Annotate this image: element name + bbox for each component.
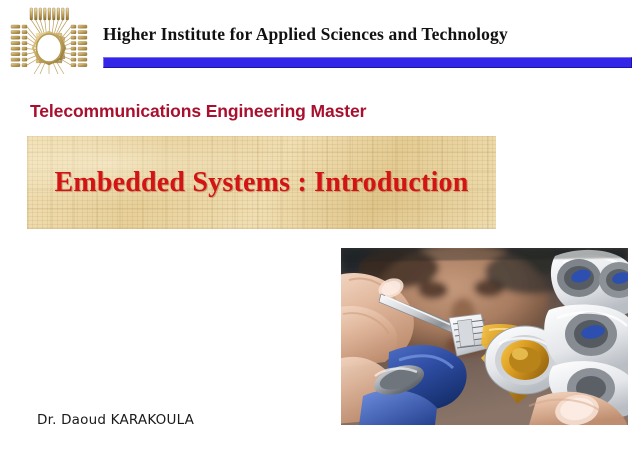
title-banner: Embedded Systems : Introduction <box>27 136 496 229</box>
slide-canvas: Higher Institute for Applied Sciences an… <box>0 0 640 452</box>
author-name: Dr. Daoud KARAKOULA <box>37 412 194 428</box>
page-title: Embedded Systems : Introduction <box>54 167 468 199</box>
header-divider-bar <box>103 57 632 68</box>
microelectronics-assembly-photo <box>341 248 628 425</box>
institute-name: Higher Institute for Applied Sciences an… <box>103 24 508 45</box>
ic-chip-logo-icon <box>8 6 90 82</box>
program-subtitle: Telecommunications Engineering Master <box>30 101 366 122</box>
